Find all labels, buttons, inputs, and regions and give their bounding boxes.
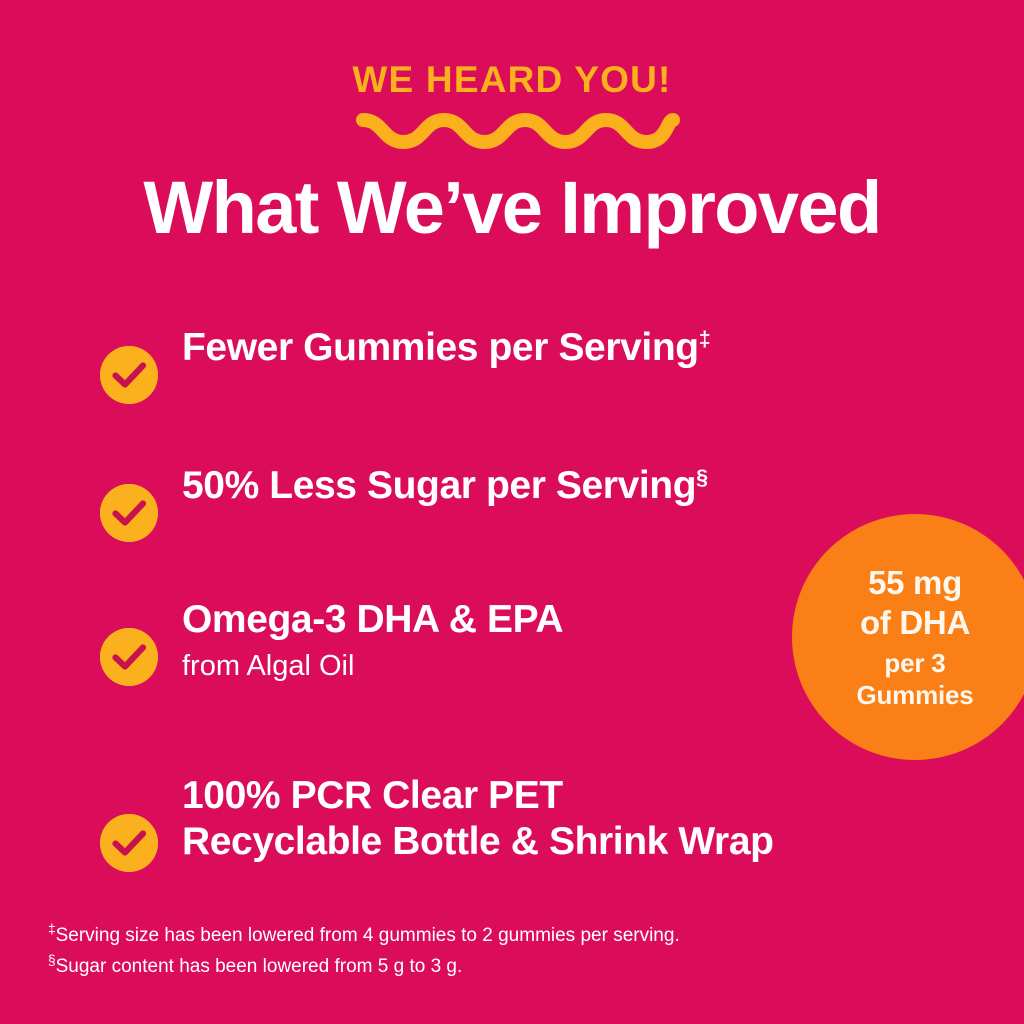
list-item: 100% PCR Clear PET Recyclable Bottle & S… [100, 772, 774, 872]
benefit-title: 100% PCR Clear PET [182, 773, 774, 819]
benefit-subtitle: from Algal Oil [182, 647, 563, 685]
list-item: Fewer Gummies per Serving‡ [100, 324, 710, 404]
list-item: 50% Less Sugar per Serving§ [100, 462, 708, 542]
footnote-item: §Sugar content has been lowered from 5 g… [48, 951, 948, 982]
badge-serving-unit: Gummies [856, 679, 973, 711]
footnote-text: Serving size has been lowered from 4 gum… [56, 925, 680, 946]
benefit-title: Omega-3 DHA & EPA [182, 597, 563, 643]
badge-amount: 55 mg [868, 563, 962, 603]
badge-serving-count: per 3 [884, 647, 945, 679]
footnote-text: Sugar content has been lowered from 5 g … [56, 956, 463, 977]
dha-badge: 55 mg of DHA per 3 Gummies [792, 514, 1024, 760]
check-circle-icon [100, 346, 158, 404]
check-circle-icon [100, 484, 158, 542]
check-circle-icon [100, 814, 158, 872]
footnote-item: ‡Serving size has been lowered from 4 gu… [48, 920, 948, 951]
benefit-title: 50% Less Sugar per Serving§ [182, 463, 708, 509]
benefit-title-text: Fewer Gummies per Serving [182, 326, 699, 369]
footnotes: ‡Serving size has been lowered from 4 gu… [48, 920, 948, 982]
benefit-subtitle: Recyclable Bottle & Shrink Wrap [182, 819, 774, 865]
benefit-title-text: 50% Less Sugar per Serving [182, 464, 696, 507]
benefit-title-text: Omega-3 DHA & EPA [182, 598, 563, 641]
benefit-footnote-marker: § [696, 465, 708, 489]
footnote-marker: § [48, 953, 56, 968]
benefit-title-text: 100% PCR Clear PET [182, 774, 563, 817]
footnote-marker: ‡ [48, 922, 56, 937]
benefit-footnote-marker: ‡ [699, 327, 711, 351]
check-circle-icon [100, 628, 158, 686]
kicker-text: WE HEARD YOU! [0, 58, 1024, 102]
wavy-line-icon [356, 108, 680, 154]
promo-poster: WE HEARD YOU! What We’ve Improved Fewer … [0, 0, 1024, 1024]
badge-nutrient: of DHA [860, 603, 970, 643]
benefit-title: Fewer Gummies per Serving‡ [182, 325, 710, 371]
page-title: What We’ve Improved [0, 166, 1024, 250]
list-item: Omega-3 DHA & EPA from Algal Oil [100, 596, 563, 686]
